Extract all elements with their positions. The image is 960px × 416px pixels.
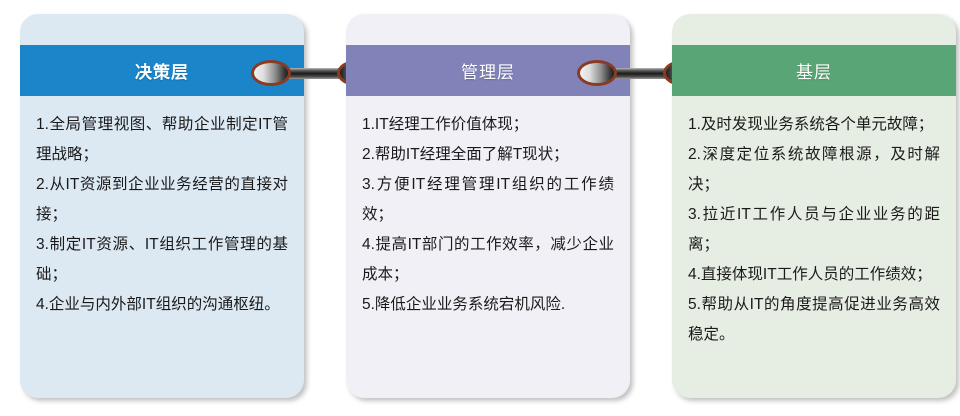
connector-cap-left-icon	[577, 60, 617, 86]
three-layer-diagram: 决策层 1.全局管理视图、帮助企业制定IT管理战略； 2.从IT资源到企业业务经…	[0, 0, 960, 416]
card-base-layer[interactable]: 基层 1.及时发现业务系统各个单元故障； 2.深度定位系统故障根源，及时解决； …	[672, 14, 956, 398]
card-decision-layer-title: 决策层	[135, 58, 189, 83]
card-decision-layer-body: 1.全局管理视图、帮助企业制定IT管理战略； 2.从IT资源到企业业务经营的直接…	[20, 96, 304, 330]
card-management-layer-body: 1.IT经理工作价值体现； 2.帮助IT经理全面了解T现状； 3.方便IT经理管…	[346, 96, 630, 330]
connector-cap-left-icon	[251, 60, 291, 86]
card-management-layer-title: 管理层	[461, 58, 515, 83]
card-decision-layer-text: 1.全局管理视图、帮助企业制定IT管理战略； 2.从IT资源到企业业务经营的直接…	[36, 110, 288, 320]
card-base-layer-header: 基层	[672, 45, 956, 96]
card-base-layer-body: 1.及时发现业务系统各个单元故障； 2.深度定位系统故障根源，及时解决； 3.拉…	[672, 96, 956, 360]
card-base-layer-title: 基层	[796, 58, 832, 83]
card-management-layer-text: 1.IT经理工作价值体现； 2.帮助IT经理全面了解T现状； 3.方便IT经理管…	[362, 110, 614, 320]
card-base-layer-text: 1.及时发现业务系统各个单元故障； 2.深度定位系统故障根源，及时解决； 3.拉…	[688, 110, 940, 350]
